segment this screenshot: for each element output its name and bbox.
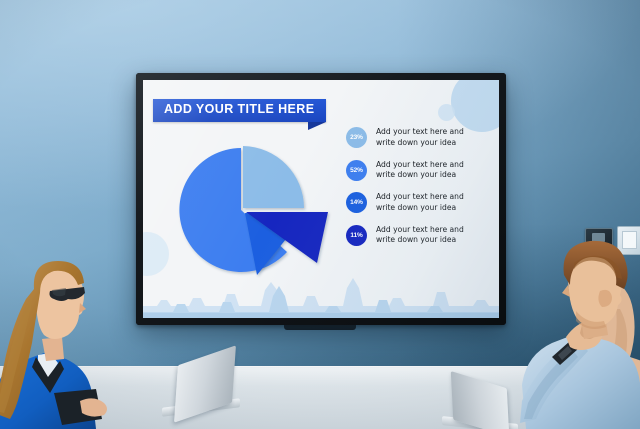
legend-line-2: write down your idea bbox=[376, 138, 464, 148]
legend-item[interactable]: 52% Add your text here and write down yo… bbox=[346, 160, 486, 181]
legend-item[interactable]: 23% Add your text here and write down yo… bbox=[346, 127, 486, 148]
ribbon-tail bbox=[308, 122, 326, 130]
presentation-slide[interactable]: ADD YOUR TITLE HERE bbox=[143, 80, 499, 318]
legend-badge-14: 14% bbox=[346, 192, 367, 213]
wall-television[interactable]: ADD YOUR TITLE HERE bbox=[136, 73, 506, 325]
legend-percent: 11% bbox=[350, 232, 362, 239]
pie-chart[interactable] bbox=[167, 132, 337, 282]
person-woman-left bbox=[0, 243, 140, 429]
legend-line-1: Add your text here and bbox=[376, 160, 464, 170]
decorative-circle-large bbox=[451, 80, 499, 132]
legend-item[interactable]: 11% Add your text here and write down yo… bbox=[346, 225, 486, 246]
tv-bezel: ADD YOUR TITLE HERE bbox=[136, 73, 506, 325]
title-ribbon: ADD YOUR TITLE HERE bbox=[153, 99, 326, 122]
legend-text: Add your text here and write down your i… bbox=[376, 127, 464, 148]
legend-percent: 14% bbox=[350, 199, 363, 206]
legend-percent: 23% bbox=[350, 134, 363, 141]
tv-screen[interactable]: ADD YOUR TITLE HERE bbox=[143, 80, 499, 318]
legend-item[interactable]: 14% Add your text here and write down yo… bbox=[346, 192, 486, 213]
tv-stand bbox=[284, 325, 356, 330]
person-man-right bbox=[496, 233, 640, 429]
conference-room-scene: ADD YOUR TITLE HERE bbox=[0, 0, 640, 429]
legend-line-2: write down your idea bbox=[376, 203, 464, 213]
slide-title-banner: ADD YOUR TITLE HERE bbox=[153, 99, 326, 122]
pie-chart-svg bbox=[167, 132, 337, 282]
legend-badge-52: 52% bbox=[346, 160, 367, 181]
legend-text: Add your text here and write down your i… bbox=[376, 160, 464, 181]
legend-line-2: write down your idea bbox=[376, 170, 464, 180]
page-title: ADD YOUR TITLE HERE bbox=[164, 103, 314, 117]
legend-text: Add your text here and write down your i… bbox=[376, 192, 464, 213]
legend-line-1: Add your text here and bbox=[376, 225, 464, 235]
chart-legend: 23% Add your text here and write down yo… bbox=[346, 127, 486, 257]
decorative-circle-small bbox=[438, 104, 455, 121]
legend-line-1: Add your text here and bbox=[376, 192, 464, 202]
legend-line-1: Add your text here and bbox=[376, 127, 464, 137]
decorative-circle-left bbox=[143, 232, 169, 276]
legend-badge-23: 23% bbox=[346, 127, 367, 148]
legend-text: Add your text here and write down your i… bbox=[376, 225, 464, 246]
legend-line-2: write down your idea bbox=[376, 235, 464, 245]
pie-slice-23 bbox=[243, 146, 304, 208]
legend-badge-11: 11% bbox=[346, 225, 367, 246]
legend-percent: 52% bbox=[350, 167, 363, 174]
